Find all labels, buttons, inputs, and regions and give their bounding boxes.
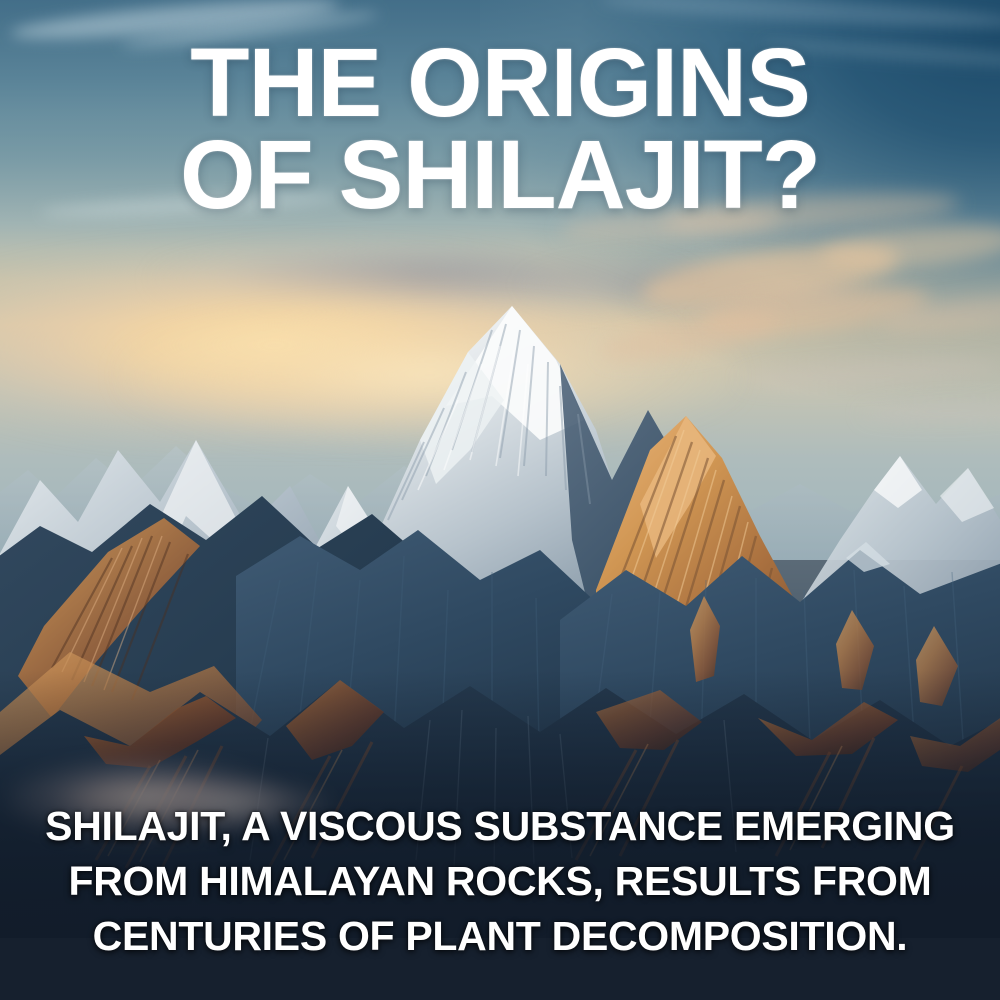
caption-line-3: CENTURIES OF PLANT DECOMPOSITION.	[16, 909, 984, 964]
headline-line-2: OF SHILAJIT?	[56, 130, 944, 220]
poster-image: THE ORIGINS OF SHILAJIT? SHILAJIT, A VIS…	[0, 0, 1000, 1000]
caption-line-1: SHILAJIT, A VISCOUS SUBSTANCE EMERGING	[16, 799, 984, 854]
caption-text: SHILAJIT, A VISCOUS SUBSTANCE EMERGING F…	[0, 799, 1000, 964]
page-title: THE ORIGINS OF SHILAJIT?	[0, 38, 1000, 220]
headline-line-1: THE ORIGINS	[56, 38, 944, 128]
caption-line-2: FROM HIMALAYAN ROCKS, RESULTS FROM	[16, 854, 984, 909]
